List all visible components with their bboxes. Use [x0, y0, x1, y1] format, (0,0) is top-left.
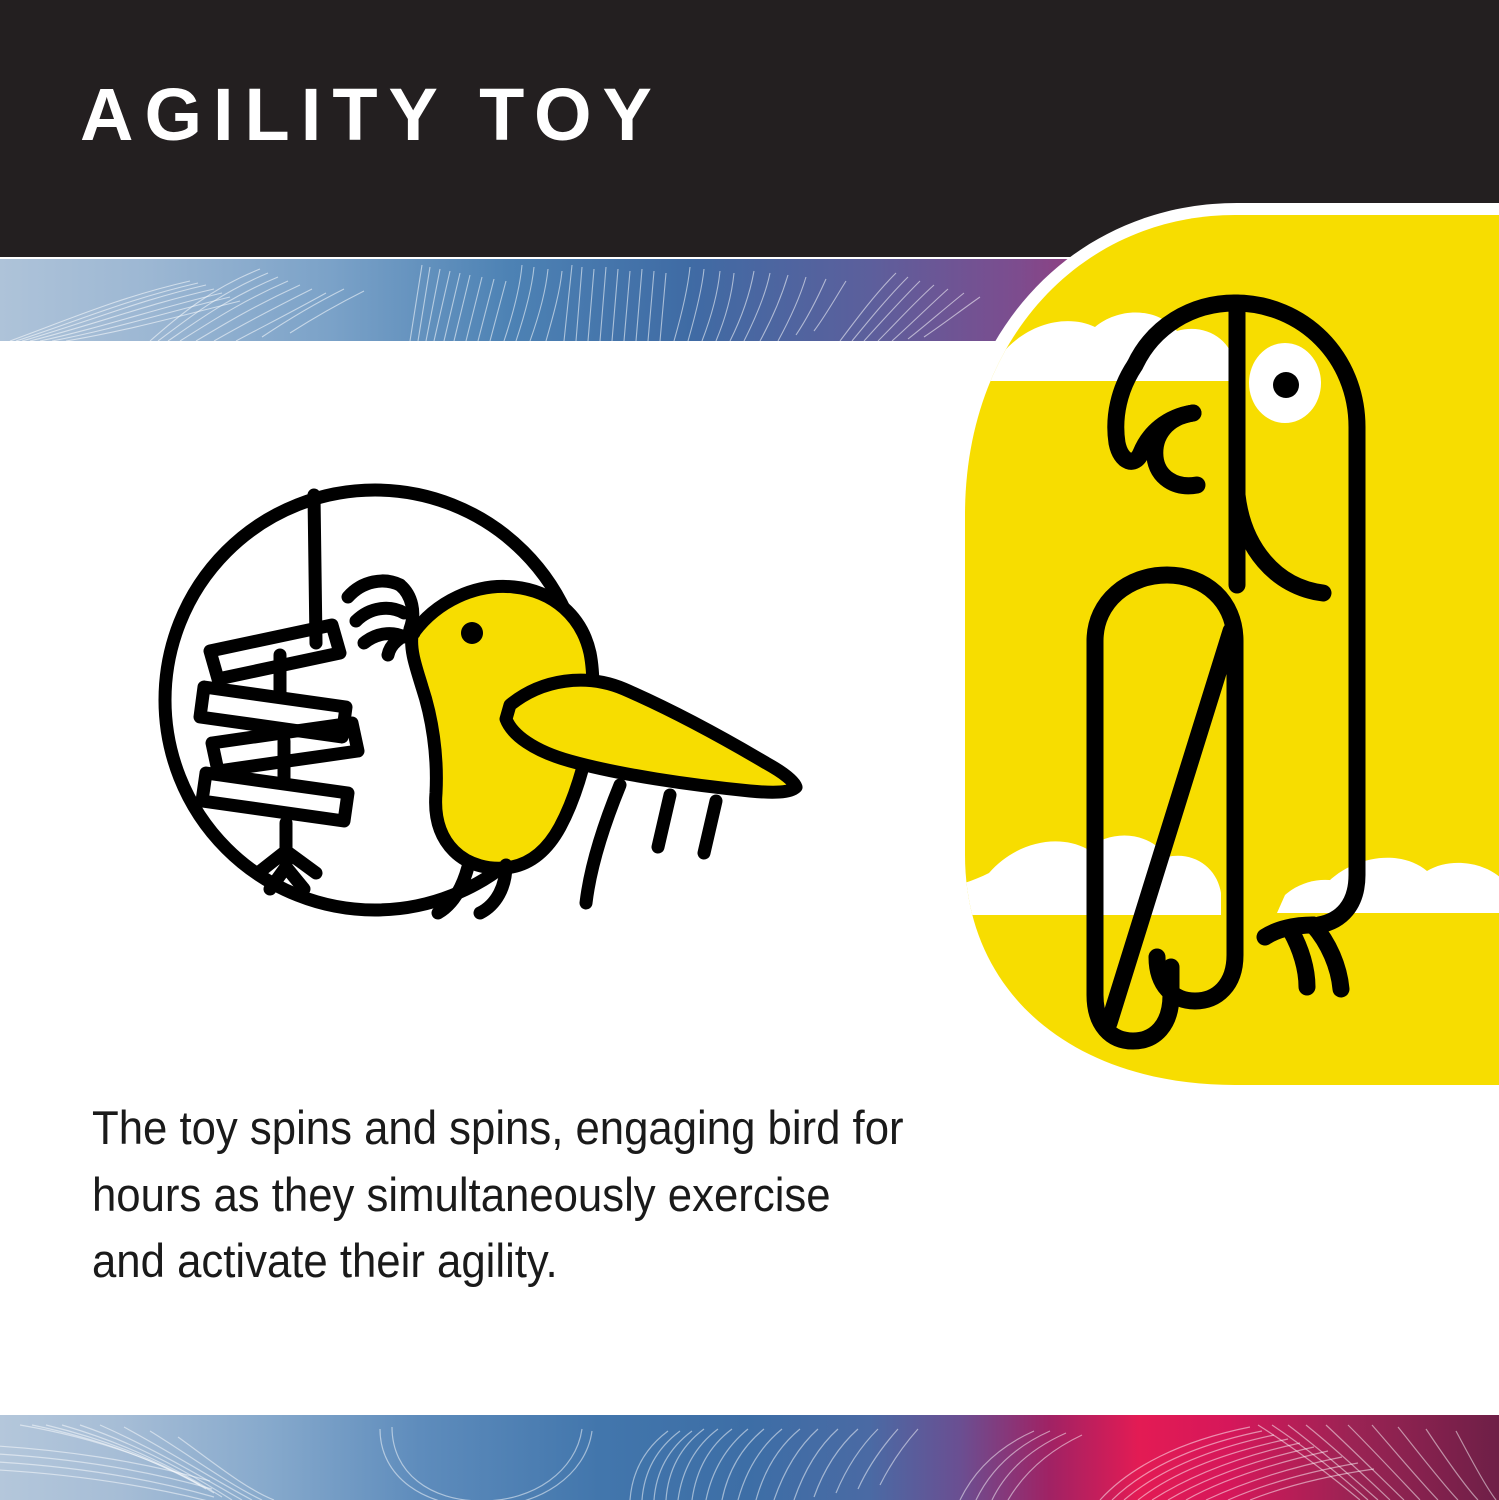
product-description: The toy spins and spins, engaging bird f…	[92, 1095, 910, 1295]
product-feature-card: AGILITY TOY	[0, 0, 1499, 1500]
page-title: AGILITY TOY	[80, 78, 663, 152]
parrot-hero-illustration	[905, 195, 1499, 1095]
feather-gradient-band-bottom	[0, 1415, 1499, 1500]
bird-with-agility-toy-icon	[150, 455, 850, 955]
